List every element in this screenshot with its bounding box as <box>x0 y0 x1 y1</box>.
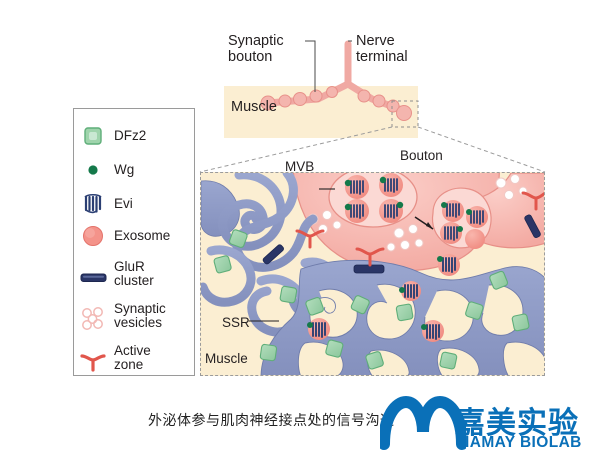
green-dot-icon <box>74 157 114 183</box>
label-nerve-terminal-line2: terminal <box>356 49 436 65</box>
legend-item-exosome: Exosome <box>74 223 196 249</box>
legend-label-exosome: Exosome <box>114 229 170 244</box>
label-synaptic-bouton-line1: Synaptic <box>228 33 308 49</box>
wave-mark-icon <box>380 392 466 454</box>
label-ssr: SSR <box>222 315 250 330</box>
label-synaptic-bouton-line2: bouton <box>228 49 308 65</box>
legend-item-evi: Evi <box>74 191 196 217</box>
legend-label-glur-line1: GluR <box>114 260 154 275</box>
legend-item-glur-cluster: GluR cluster <box>74 257 196 291</box>
label-muscle-overview: Muscle <box>231 99 277 115</box>
legend-label-vesicles-line1: Synaptic <box>114 302 166 317</box>
legend-item-wg: Wg <box>74 157 196 183</box>
legend-label-dfz2: DFz2 <box>114 129 146 144</box>
legend-box: DFz2 Wg <box>73 108 195 376</box>
legend-item-dfz2: DFz2 <box>74 123 196 149</box>
figure-root: Synaptic bouton Nerve terminal Muscle DF… <box>0 0 616 466</box>
label-bouton: Bouton <box>400 148 443 163</box>
label-synaptic-bouton: Synaptic bouton <box>228 33 308 65</box>
red-t-bar-icon <box>74 345 114 371</box>
pink-vesicle-cluster-icon <box>74 303 114 329</box>
legend-label-evi: Evi <box>114 197 133 212</box>
pink-circle-icon <box>74 223 114 249</box>
label-nerve-terminal-line1: Nerve <box>356 33 436 49</box>
legend-item-active-zone: Active zone <box>74 341 196 375</box>
legend-label-glur-line2: cluster <box>114 274 154 289</box>
green-square-receptor-icon <box>74 123 114 149</box>
legend-label-active-zone-line2: zone <box>114 358 151 373</box>
caption-text: 外泌体参与肌肉神经接点处的信号沟通 <box>148 410 395 430</box>
label-muscle-main: Muscle <box>205 351 248 366</box>
legend-label-active-zone: Active zone <box>114 344 151 373</box>
logo-english-text: JIAMAY BIOLAB <box>456 434 582 452</box>
legend-label-glur-cluster: GluR cluster <box>114 260 154 289</box>
legend-label-synaptic-vesicles: Synaptic vesicles <box>114 302 166 331</box>
legend-label-active-zone-line1: Active <box>114 344 151 359</box>
main-diagram-panel <box>200 172 545 376</box>
legend-label-vesicles-line2: vesicles <box>114 316 166 331</box>
main-diagram-graphics <box>201 173 545 376</box>
legend-label-wg: Wg <box>114 163 134 178</box>
navy-bar-icon <box>74 261 114 287</box>
label-nerve-terminal: Nerve terminal <box>356 33 436 65</box>
legend-item-synaptic-vesicles: Synaptic vesicles <box>74 299 196 333</box>
blue-transmembrane-icon <box>74 191 114 217</box>
label-mvb: MVB <box>285 159 314 174</box>
jiamay-biolab-logo: 嘉美实验 JIAMAY BIOLAB <box>455 398 613 460</box>
